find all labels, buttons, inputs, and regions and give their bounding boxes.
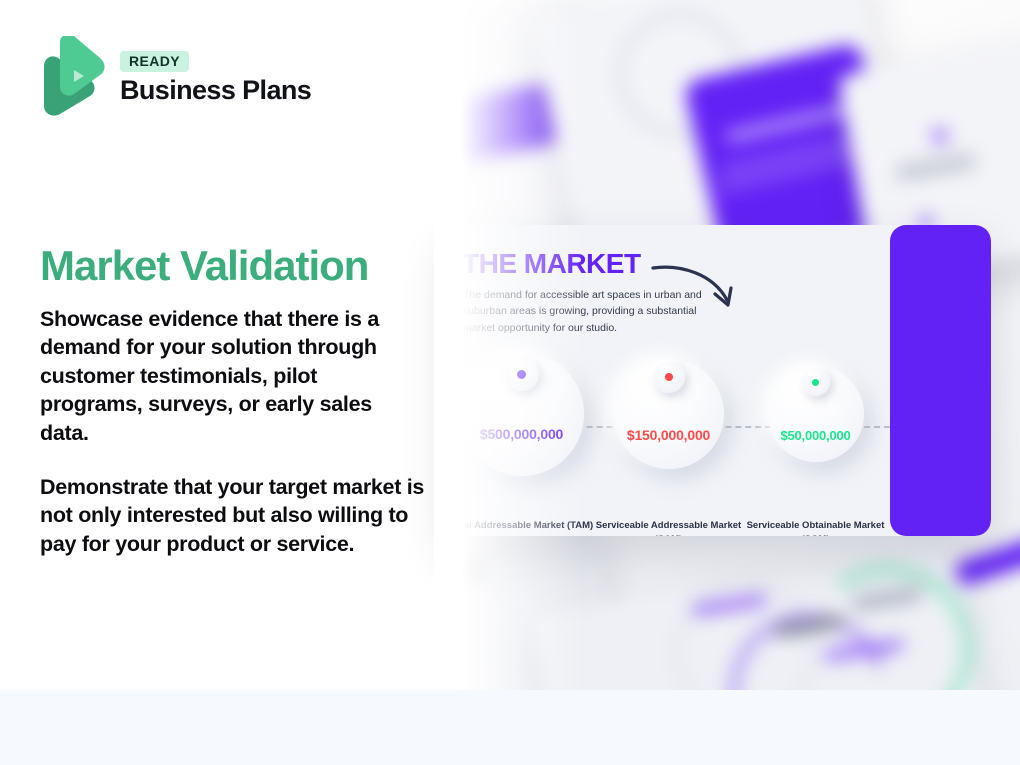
background-accent-block xyxy=(434,83,558,190)
background-accent-block xyxy=(434,180,458,265)
dial-value-sam: $150,000,000 xyxy=(595,427,742,443)
brand-name: Business Plans xyxy=(120,76,311,104)
dial-knob xyxy=(802,368,830,396)
background-dot xyxy=(932,128,948,144)
dial-som[interactable]: $50,000,000 Serviceable Obtainable Marke… xyxy=(742,352,889,476)
brand-logo: READY Business Plans xyxy=(40,36,311,116)
slide-root: READY Business Plans Market Validation S… xyxy=(0,0,1020,765)
dial-value-som: $50,000,000 xyxy=(742,428,889,443)
background-accent-block xyxy=(953,527,1020,587)
body-paragraph-1: Showcase evidence that there is a demand… xyxy=(40,305,425,447)
dial-dot-sam xyxy=(665,373,673,381)
dial-dot-som xyxy=(812,379,819,386)
play-triangle-logo-icon xyxy=(40,36,106,116)
dial-knob xyxy=(653,361,685,393)
body-paragraph-2: Demonstrate that your target market is n… xyxy=(40,473,425,558)
body-copy: Showcase evidence that there is a demand… xyxy=(40,305,425,558)
footer-band xyxy=(0,690,1020,765)
page-title: Market Validation xyxy=(40,243,440,288)
background-text-bar xyxy=(434,557,481,586)
curved-down-arrow-icon xyxy=(651,258,743,323)
dial-label-sam: Serviceable Addressable Market (SAM) xyxy=(594,519,744,536)
ready-badge: READY xyxy=(120,51,189,72)
dial-sam[interactable]: $150,000,000 Serviceable Addressable Mar… xyxy=(595,352,742,476)
card-accent-panel xyxy=(890,225,991,536)
dial-label-som: Serviceable Obtainable Market (SOM) xyxy=(741,519,891,536)
